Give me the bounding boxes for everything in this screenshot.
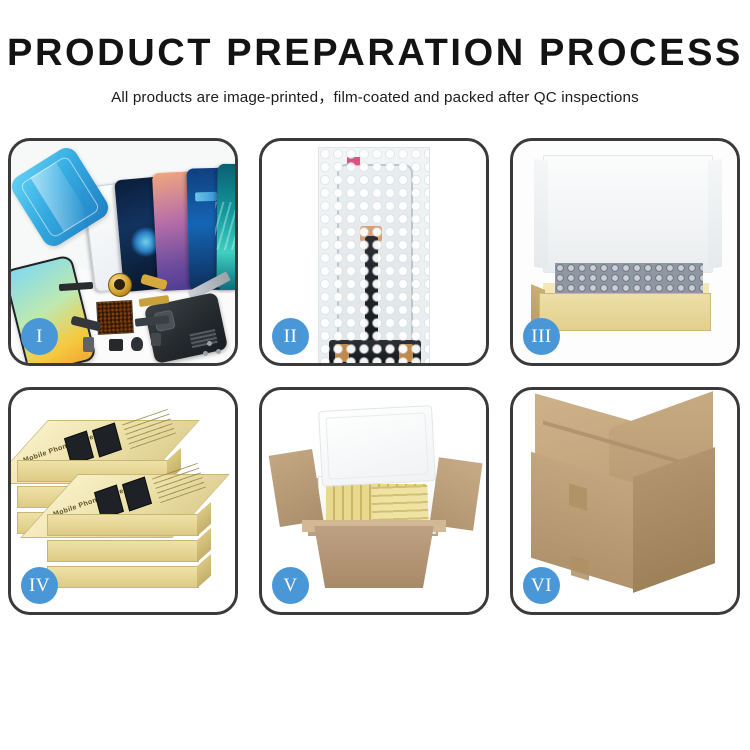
step-badge-5: V [272,567,309,604]
process-step-panel-6[interactable]: VI [510,387,740,615]
carton-front-wall [306,526,442,588]
screen-connector [360,226,382,242]
process-step-panel-3[interactable]: III [510,138,740,366]
screw-part [216,349,221,354]
wrapped-phone-screen [337,164,413,348]
kraft-box-layer [47,566,199,588]
small-component-part [83,337,94,352]
step-badge-6: VI [523,567,560,604]
step-badge-3: III [523,318,560,355]
page-title: PRODUCT PREPARATION PROCESS [0,34,750,74]
copper-mesh-pad [96,300,134,335]
small-component-part [109,339,123,351]
process-step-panel-2[interactable]: II [259,138,489,366]
screw-part [207,341,212,346]
small-component-part [151,333,161,346]
kraft-box-front-panel [539,293,711,331]
camera-lens-part [108,273,132,297]
screen-connector-pad [363,244,379,255]
phone-screen-fan [89,155,235,290]
step-badge-1: I [21,318,58,355]
screw-part [203,351,208,356]
kraft-box-lid-upper: Mobile Phone Spare Parts [19,420,169,446]
bubble-wrap-bag [318,147,430,363]
page-header: PRODUCT PREPARATION PROCESS All products… [0,0,750,107]
screen-flex-cable [365,236,378,348]
kraft-box-lid-lower: Mobile Phone Spare Parts [49,474,199,500]
process-step-panel-5[interactable]: V [259,387,489,615]
step-badge-2: II [272,318,309,355]
process-step-panel-1[interactable]: I [8,138,238,366]
white-foam-lid [543,155,713,273]
step-badge-4: IV [21,567,58,604]
small-component-part [131,337,143,351]
screen-bottom-assembly [329,340,421,363]
process-step-panel-4[interactable]: Mobile Phone Spare Parts Mobile Phone S [8,387,238,615]
foam-box-open-lid [318,405,436,487]
kraft-box-layer [47,540,199,562]
process-steps-grid: I II III [8,138,742,615]
page-subtitle: All products are image-printed，film-coat… [0,85,750,107]
kraft-box-layer [47,514,199,536]
pink-label-sticker [347,157,360,165]
